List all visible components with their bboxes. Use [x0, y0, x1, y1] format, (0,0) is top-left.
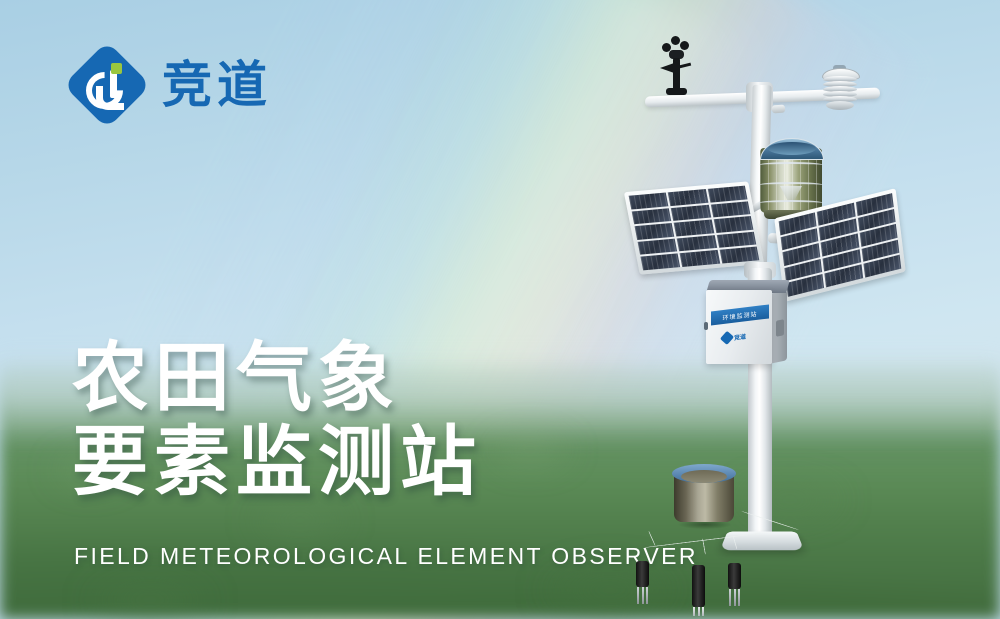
solar-panel-cells [629, 186, 760, 271]
soil-sensor-probe-1 [636, 561, 649, 604]
soil-probe-pins [636, 587, 649, 604]
controller-vent-icon [776, 319, 784, 337]
controller-box: 环境监测站 竞道 [706, 280, 790, 366]
rain-gauge-ring [759, 182, 823, 188]
brand-logo: 竞道 [70, 48, 272, 122]
bucket-rim [672, 464, 736, 483]
headline-line-2: 要素监测站 [72, 420, 482, 504]
soil-probe-pins [728, 589, 741, 606]
radiation-shield-temp-humidity-sensor [820, 68, 860, 114]
anemometer-foot [666, 88, 687, 95]
logo-j-hook-icon [96, 86, 124, 110]
controller-logo-text: 竞道 [734, 331, 746, 341]
soil-sensor-cable [702, 539, 706, 555]
arm-mount-nub [772, 105, 786, 114]
rain-gauge-ring [759, 200, 823, 206]
solar-panel-frame [624, 181, 764, 274]
rain-gauge-ring [759, 162, 823, 168]
anemometer-cup [680, 41, 689, 50]
soil-sensor-probe-2 [692, 565, 705, 616]
bucket-opening [681, 470, 727, 483]
base-plate [720, 532, 804, 551]
soil-probe-body [692, 565, 705, 607]
rain-gauge-opening [768, 142, 816, 155]
shield-bottom [826, 101, 854, 110]
wind-vane-tail [679, 63, 691, 69]
controller-label-text: 环境监测站 [722, 308, 757, 321]
soil-probe-body [636, 561, 649, 587]
field-meteorological-station: 环境监测站 竞道 [600, 10, 1000, 619]
soil-probe-body [728, 563, 741, 589]
anemometer-wind-sensor-icon [657, 32, 697, 94]
anemometer-cup [671, 36, 680, 45]
page-title: 农田气象 要素监测站 [72, 336, 482, 504]
soil-probe-pins [692, 607, 705, 616]
poster-canvas: 竞道 农田气象 要素监测站 FIELD METEOROLOGICAL ELEME… [0, 0, 1000, 619]
wind-vane-icon [660, 62, 677, 74]
brand-name-text: 竞道 [162, 60, 272, 110]
soil-sensor-cable [648, 531, 655, 546]
logo-green-square-icon [111, 63, 122, 74]
controller-latch-icon [704, 322, 708, 330]
soil-sensor-probe-3 [728, 563, 741, 606]
jingdao-diamond-logo-icon [70, 48, 144, 122]
ground-rain-bucket [672, 462, 736, 528]
headline-line-1: 农田气象 [72, 333, 400, 422]
solar-panel-left [624, 181, 764, 274]
controller-box-face [706, 290, 772, 364]
rain-gauge-rim [760, 138, 824, 160]
